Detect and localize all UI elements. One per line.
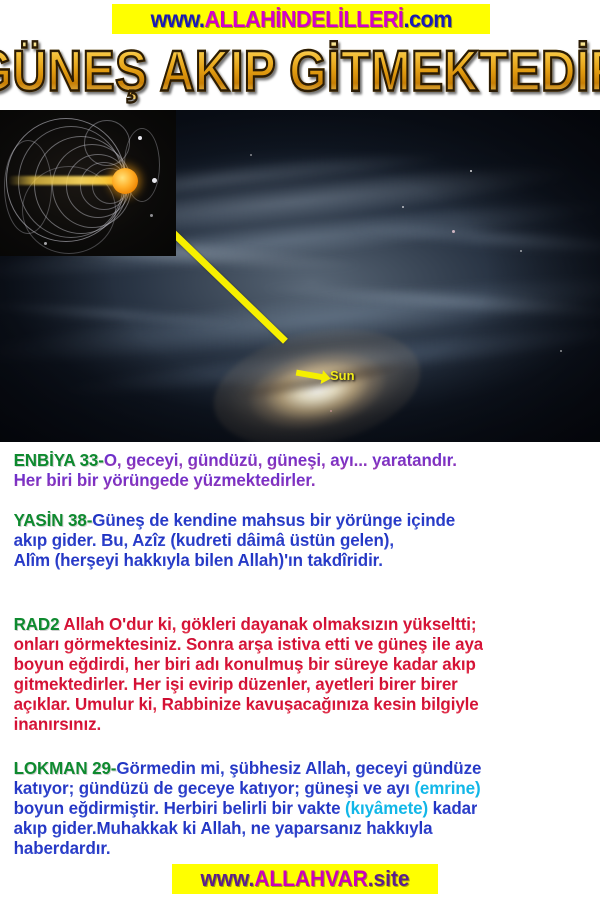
verse-line: RAD2 Allah O'dur ki, gökleri dayanak olm… xyxy=(0,614,483,634)
verse-block-enbiya: ENBİYA 33-O, geceyi, gündüzü, güneşi, ay… xyxy=(0,450,471,490)
planet-dot xyxy=(138,136,142,140)
planet-dot xyxy=(44,242,47,245)
star-speck xyxy=(470,170,472,172)
verse-line: Alîm (herşeyi hakkıyla bilen Allah)'ın t… xyxy=(0,550,455,570)
star-speck xyxy=(402,206,404,208)
star-speck xyxy=(452,230,455,233)
verse-line: akıp gider. Bu, Azîz (kudreti dâimâ üstü… xyxy=(0,530,455,550)
top-url-suffix: .com xyxy=(403,6,452,32)
verse-ref-yasin: YASİN 38- xyxy=(14,510,93,530)
headline-container: GÜNEŞ AKIP GİTMEKTEDİR xyxy=(0,38,600,102)
star-speck xyxy=(560,350,562,352)
verse-text: Güneş de kendine mahsus bir yörünge için… xyxy=(92,510,455,530)
verse-text: O, geceyi, gündüzü, güneşi, ayı... yarat… xyxy=(104,450,457,470)
verse-ref-lokman: LOKMAN 29- xyxy=(14,758,117,778)
verse-text: Görmedin mi, şübhesiz Allah, geceyi günd… xyxy=(116,758,481,778)
verse-highlight-emrine: (emrine) xyxy=(414,778,480,798)
verse-line: boyun eğdirmiştir. Herbiri belirli bir v… xyxy=(0,798,481,818)
verse-highlight-kiyamete: (kıyâmete) xyxy=(345,798,428,818)
verse-line: inanırsınız. xyxy=(0,714,483,734)
star-speck xyxy=(250,154,252,156)
verse-block-yasin: YASİN 38-Güneş de kendine mahsus bir yör… xyxy=(0,510,469,570)
sun-label: Sun xyxy=(330,368,355,383)
top-url-text: www.ALLAHİNDELİLLERİ.com xyxy=(150,8,451,31)
verses-container: ENBİYA 33-O, geceyi, gündüzü, güneşi, ay… xyxy=(0,442,600,900)
verse-ref-rad: RAD2 xyxy=(14,614,60,634)
verse-line: ENBİYA 33-O, geceyi, gündüzü, güneşi, ay… xyxy=(0,450,457,470)
verse-line: gitmektedirler. Her işi evirip düzenler,… xyxy=(0,674,483,694)
verse-line: akıp gider.Muhakkak ki Allah, ne yaparsa… xyxy=(0,818,481,838)
verse-line: açıklar. Umulur ki, Rabbinize kavuşacağı… xyxy=(0,694,483,714)
verse-block-lokman: LOKMAN 29-Görmedin mi, şübhesiz Allah, g… xyxy=(0,758,496,858)
star-speck xyxy=(520,250,522,252)
top-url-prefix: www. xyxy=(150,6,204,32)
verse-text-tail: kadar xyxy=(428,798,477,818)
solar-motion-beam xyxy=(8,176,126,185)
verse-line: LOKMAN 29-Görmedin mi, şübhesiz Allah, g… xyxy=(0,758,481,778)
bottom-url-brand: ALLAHVAR xyxy=(254,866,367,891)
page-title: GÜNEŞ AKIP GİTMEKTEDİR xyxy=(0,41,600,98)
bottom-url-banner[interactable]: www.ALLAHVAR.site xyxy=(172,864,438,894)
verse-line: Her biri bir yörüngede yüzmektedirler. xyxy=(0,470,457,490)
bottom-url-text: www.ALLAHVAR.site xyxy=(200,868,409,890)
bottom-url-prefix: www. xyxy=(200,866,254,891)
orbit-ring xyxy=(84,120,130,166)
verse-line: onları görmektesiniz. Sonra arşa istiva … xyxy=(0,634,483,654)
verse-line: katıyor; gündüzü de geceye katıyor; güne… xyxy=(0,778,481,798)
verse-line: boyun eğdirdi, her biri adı konulmuş bir… xyxy=(0,654,483,674)
planet-dot xyxy=(152,178,157,183)
verse-text: boyun eğdirmiştir. Herbiri belirli bir v… xyxy=(14,798,345,818)
planet-dot xyxy=(150,214,153,217)
verse-text: Allah O'dur ki, gökleri dayanak olmaksız… xyxy=(59,614,476,634)
verse-line: YASİN 38-Güneş de kendine mahsus bir yör… xyxy=(0,510,455,530)
poster-root: www.ALLAHİNDELİLLERİ.com GÜNEŞ AKIP GİTM… xyxy=(0,0,600,900)
solar-system-inset xyxy=(0,110,176,256)
verse-ref-enbiya: ENBİYA 33- xyxy=(14,450,104,470)
inset-sun-icon xyxy=(112,168,138,194)
verse-line: haberdardır. xyxy=(0,838,481,858)
verse-block-rad: RAD2 Allah O'dur ki, gökleri dayanak olm… xyxy=(0,614,498,734)
top-url-brand: ALLAHİNDELİLLERİ xyxy=(204,6,403,32)
verse-text: katıyor; gündüzü de geceye katıyor; güne… xyxy=(14,778,415,798)
top-url-banner[interactable]: www.ALLAHİNDELİLLERİ.com xyxy=(112,4,490,34)
star-speck xyxy=(330,410,332,412)
bottom-url-suffix: .site xyxy=(368,866,410,891)
